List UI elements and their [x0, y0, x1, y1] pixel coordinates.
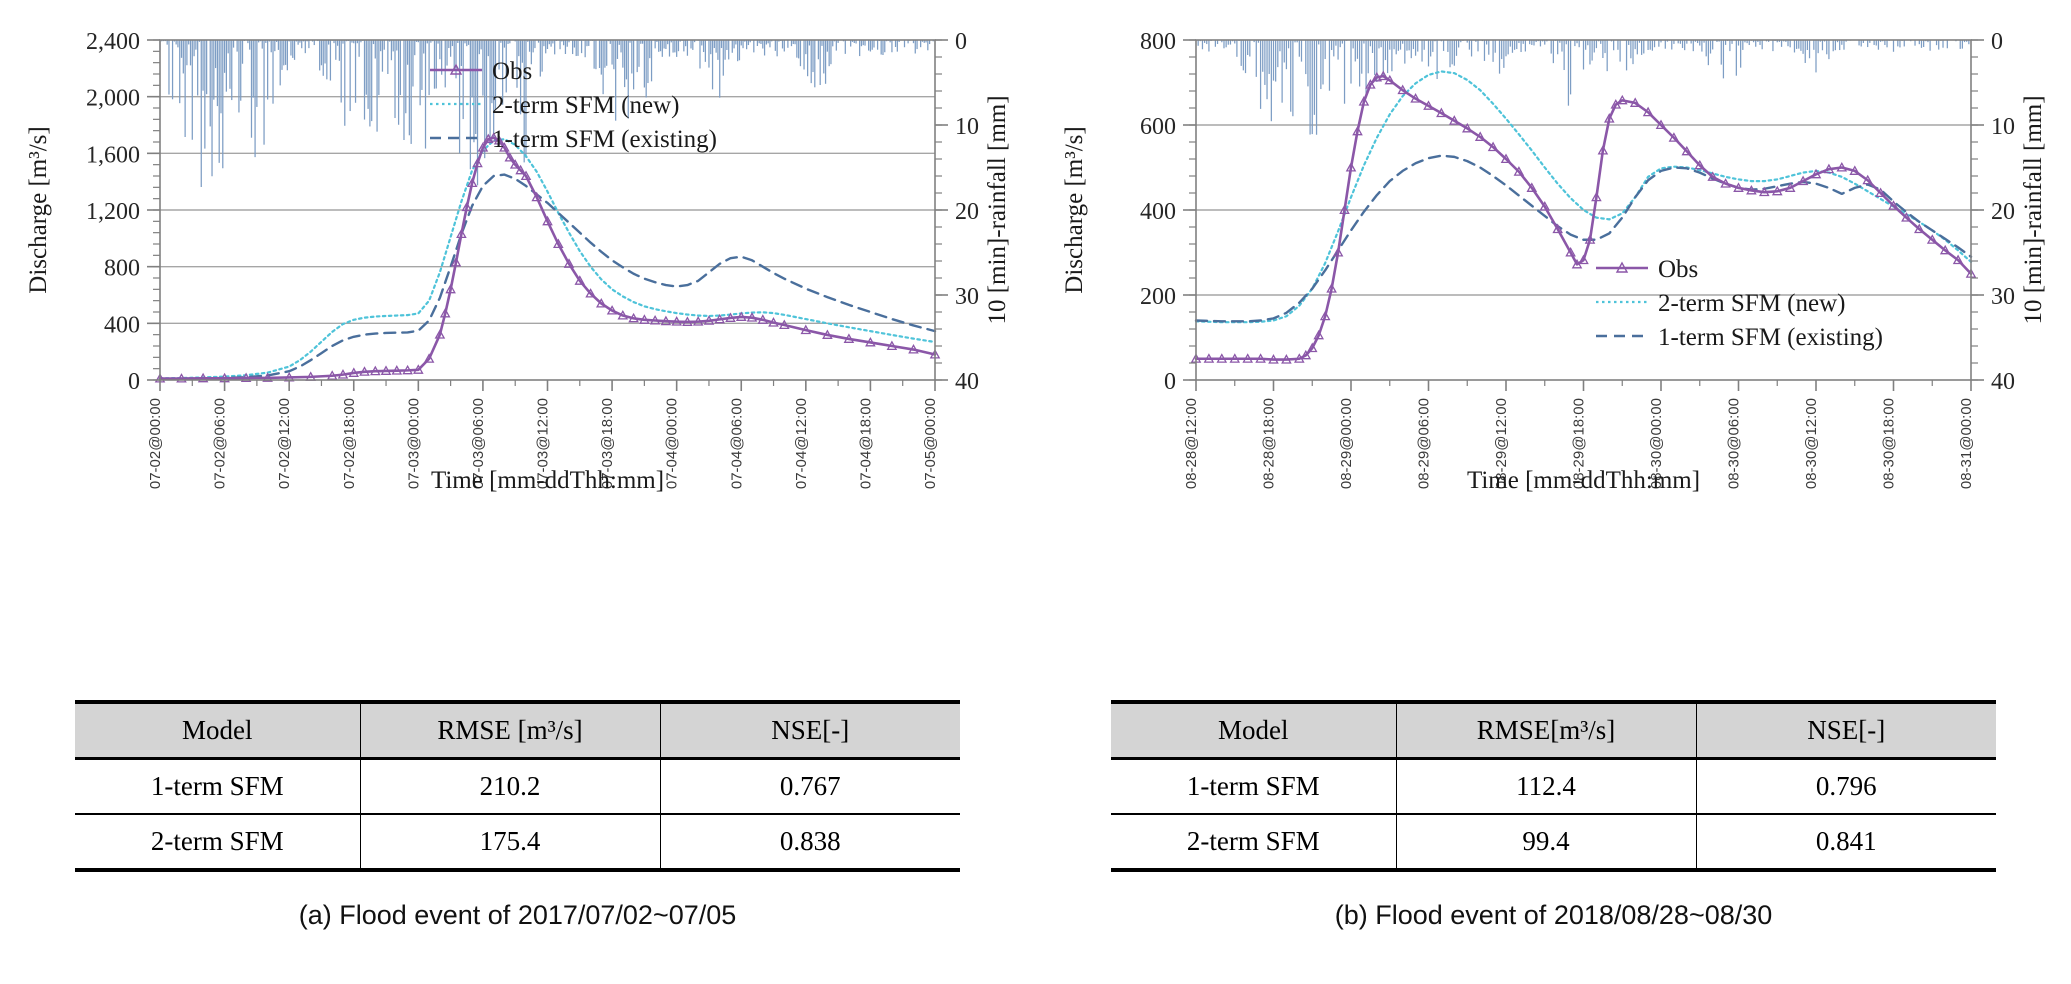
y2-tick-label: 0: [955, 29, 967, 55]
x-tick-label: 08-30@06:00: [1726, 398, 1743, 489]
hydrograph-svg-b: 020040060080001020304008-28@12:0008-28@1…: [1036, 0, 2071, 500]
x-tick-label: 08-28@18:00: [1261, 398, 1278, 489]
y2-tick-label: 40: [955, 369, 979, 395]
y2-tick-label: 30: [955, 284, 979, 310]
series-line-obs: [160, 138, 935, 379]
table-header-cell: RMSE[m³/s]: [1396, 702, 1696, 759]
legend-label: 2-term SFM (new): [492, 92, 679, 119]
table-cell: 1-term SFM: [1111, 759, 1396, 815]
x-tick-label: 08-30@12:00: [1803, 398, 1820, 489]
x-tick-label: 07-02@18:00: [341, 398, 358, 489]
table-cell: 0.796: [1696, 759, 1996, 815]
table-header-cell: NSE[-]: [1696, 702, 1996, 759]
table-header-cell: NSE[-]: [660, 702, 960, 759]
panel-caption-a: (a) Flood event of 2017/07/02~07/05: [0, 900, 1035, 931]
stats-table-holder-a: ModelRMSE [m³/s]NSE[-]1-term SFM210.20.7…: [75, 700, 960, 872]
y-tick-label: 0: [128, 369, 140, 395]
panel-b: 020040060080001020304008-28@12:0008-28@1…: [1036, 0, 2071, 984]
y2-tick-label: 40: [1991, 369, 2015, 395]
table-cell: 175.4: [360, 814, 660, 870]
legend-label: 2-term SFM (new): [1658, 290, 1845, 317]
y2-tick-label: 20: [955, 199, 979, 225]
y2-tick-label: 10: [1991, 114, 2015, 140]
obs-markers: [1192, 72, 1975, 363]
x-tick-label: 07-02@12:00: [276, 398, 293, 489]
table-row: 1-term SFM112.40.796: [1111, 759, 1996, 815]
y-tick-label: 600: [1140, 114, 1176, 140]
x-tick-label: 08-28@12:00: [1183, 398, 1200, 489]
chart-a: 04008001,2001,6002,0002,40001020304007-0…: [0, 0, 1035, 500]
y-tick-label: 800: [104, 256, 140, 282]
y-axis-title: Discharge [m³/s]: [25, 126, 52, 293]
y-axis-title: Discharge [m³/s]: [1061, 126, 1088, 293]
table-cell: 2-term SFM: [75, 814, 360, 870]
hydrograph-svg-a: 04008001,2001,6002,0002,40001020304007-0…: [0, 0, 1035, 500]
x-tick-label: 08-31@00:00: [1958, 398, 1975, 489]
x-axis-title: Time [mm-ddThh:mm]: [431, 467, 664, 494]
y-tick-label: 1,600: [86, 142, 140, 168]
legend-label: 1-term SFM (existing): [492, 126, 717, 153]
x-tick-label: 08-30@18:00: [1881, 398, 1898, 489]
table-cell: 0.838: [660, 814, 960, 870]
panel-a: 04008001,2001,6002,0002,40001020304007-0…: [0, 0, 1035, 984]
table-cell: 99.4: [1396, 814, 1696, 870]
x-tick-label: 07-04@18:00: [857, 398, 874, 489]
table-row: 2-term SFM99.40.841: [1111, 814, 1996, 870]
x-tick-label: 07-03@00:00: [405, 398, 422, 489]
table-header-cell: Model: [1111, 702, 1396, 759]
table-cell: 210.2: [360, 759, 660, 815]
x-tick-label: 07-05@00:00: [922, 398, 939, 489]
y-tick-label: 2,400: [86, 29, 140, 55]
chart-b: 020040060080001020304008-28@12:0008-28@1…: [1036, 0, 2071, 500]
series-line-2-term-sfm-new: [160, 139, 935, 378]
table-header-row: ModelRMSE [m³/s]NSE[-]: [75, 702, 960, 759]
table-header-cell: RMSE [m³/s]: [360, 702, 660, 759]
y2-tick-label: 20: [1991, 199, 2015, 225]
y-tick-label: 400: [1140, 199, 1176, 225]
table-cell: 112.4: [1396, 759, 1696, 815]
table-header-cell: Model: [75, 702, 360, 759]
legend-label: 1-term SFM (existing): [1658, 324, 1883, 351]
panel-caption-b: (b) Flood event of 2018/08/28~08/30: [1036, 900, 2071, 931]
table-cell: 1-term SFM: [75, 759, 360, 815]
x-tick-label: 07-04@06:00: [728, 398, 745, 489]
stats-table-a: ModelRMSE [m³/s]NSE[-]1-term SFM210.20.7…: [75, 700, 960, 872]
x-tick-label: 07-02@06:00: [212, 398, 229, 489]
series-line-1-term-sfm-existing: [1196, 156, 1971, 322]
table-cell: 0.841: [1696, 814, 1996, 870]
obs-markers: [156, 134, 939, 382]
x-tick-label: 08-29@00:00: [1338, 398, 1355, 489]
x-tick-label: 07-02@00:00: [147, 398, 164, 489]
y2-tick-label: 30: [1991, 284, 2015, 310]
series-line-1-term-sfm-existing: [160, 175, 935, 379]
x-tick-label: 07-04@00:00: [664, 398, 681, 489]
legend-label: Obs: [492, 58, 532, 85]
y-tick-label: 1,200: [86, 199, 140, 225]
x-tick-label: 08-29@06:00: [1416, 398, 1433, 489]
y-tick-label: 0: [1164, 369, 1176, 395]
y2-tick-label: 10: [955, 114, 979, 140]
x-tick-label: 07-04@12:00: [793, 398, 810, 489]
x-axis-title: Time [mm-ddThh:mm]: [1467, 467, 1700, 494]
stats-table-holder-b: ModelRMSE[m³/s]NSE[-]1-term SFM112.40.79…: [1111, 700, 1996, 872]
stats-table-b: ModelRMSE[m³/s]NSE[-]1-term SFM112.40.79…: [1111, 700, 1996, 872]
table-row: 2-term SFM175.40.838: [75, 814, 960, 870]
y-tick-label: 400: [104, 312, 140, 338]
y-tick-label: 2,000: [86, 86, 140, 112]
y2-tick-label: 0: [1991, 29, 2003, 55]
y-tick-label: 200: [1140, 284, 1176, 310]
table-cell: 2-term SFM: [1111, 814, 1396, 870]
y2-axis-title: 10 [min]-rainfall [mm]: [2020, 95, 2047, 324]
figure-root: 04008001,2001,6002,0002,40001020304007-0…: [0, 0, 2071, 984]
legend-label: Obs: [1658, 256, 1698, 283]
legend: Obs2-term SFM (new)1-term SFM (existing): [1596, 256, 1883, 351]
y2-axis-title: 10 [min]-rainfall [mm]: [984, 95, 1011, 324]
legend: Obs2-term SFM (new)1-term SFM (existing): [430, 58, 717, 153]
rainfall-bars: [1198, 40, 1969, 135]
table-row: 1-term SFM210.20.767: [75, 759, 960, 815]
table-cell: 0.767: [660, 759, 960, 815]
table-header-row: ModelRMSE[m³/s]NSE[-]: [1111, 702, 1996, 759]
y-tick-label: 800: [1140, 29, 1176, 55]
